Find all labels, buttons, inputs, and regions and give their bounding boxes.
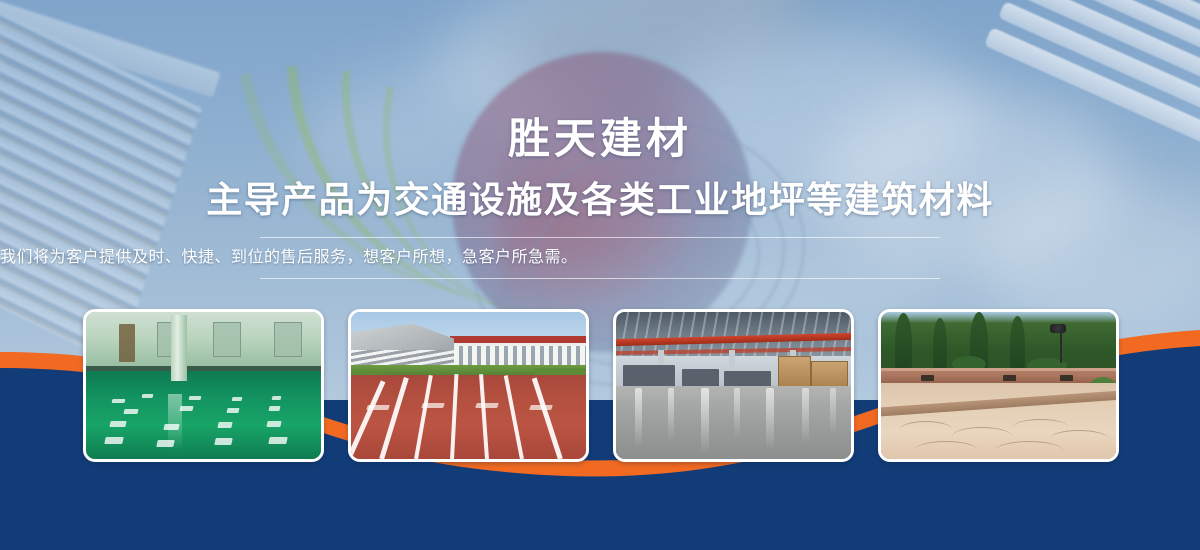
warehouse-machinery <box>682 369 720 387</box>
epoxy-highlight <box>189 396 202 400</box>
gallery-card-warehouse-floor[interactable] <box>613 309 854 462</box>
track-start-mark <box>475 403 499 408</box>
green-epoxy-floor-image <box>86 312 321 459</box>
epoxy-highlight <box>104 437 123 444</box>
plaza-wall-vent <box>921 375 934 381</box>
lamp-post-head <box>1050 324 1066 333</box>
hero-banner: 胜天建材 主导产品为交通设施及各类工业地坪等建筑材料 我们将为客户提供及时、快捷… <box>0 0 1200 550</box>
photo-gallery <box>0 0 1200 550</box>
epoxy-highlight <box>111 399 125 403</box>
epoxy-highlight <box>179 406 193 411</box>
epoxy-window-3 <box>274 322 302 356</box>
epoxy-highlight <box>266 421 281 427</box>
epoxy-window-2 <box>213 322 241 356</box>
epoxy-highlight <box>269 437 288 444</box>
epoxy-floor-surface <box>86 371 321 459</box>
epoxy-highlight <box>156 440 174 447</box>
epoxy-door <box>119 324 135 362</box>
cypress-tree <box>933 318 947 371</box>
epoxy-highlight <box>123 409 138 414</box>
track-start-mark <box>529 405 553 410</box>
cypress-tree <box>895 313 912 372</box>
epoxy-highlight <box>269 406 281 411</box>
floor-reflection <box>668 388 674 441</box>
floor-reflection <box>802 388 809 444</box>
floor-reflection <box>734 388 740 438</box>
epoxy-highlight <box>163 424 179 430</box>
track-start-mark <box>367 405 391 410</box>
stamp-pattern-line <box>914 441 978 459</box>
floor-reflection <box>766 388 774 450</box>
floor-reflection <box>635 388 642 447</box>
epoxy-highlight <box>271 396 281 400</box>
stamp-pattern-line <box>1050 430 1108 447</box>
plaza-wall-cap <box>881 368 1116 371</box>
epoxy-highlight <box>226 408 239 413</box>
gallery-card-stamped-concrete[interactable] <box>878 309 1119 462</box>
cypress-tree <box>1010 316 1025 372</box>
track-start-mark <box>421 403 445 408</box>
gallery-card-running-track[interactable] <box>348 309 589 462</box>
epoxy-column <box>171 315 187 381</box>
warehouse-floor-image <box>616 312 851 459</box>
plaza-wall-vent <box>1003 375 1016 381</box>
epoxy-highlight <box>215 438 233 445</box>
stamped-concrete-image <box>881 312 1116 459</box>
track-building-windows <box>450 346 586 367</box>
epoxy-highlight <box>217 422 232 428</box>
epoxy-highlight <box>231 397 242 401</box>
epoxy-highlight <box>142 394 154 398</box>
running-track-image <box>351 312 586 459</box>
track-building-roof <box>450 336 586 343</box>
floor-reflection <box>830 388 836 435</box>
plaza-tree-line <box>881 312 1116 374</box>
stamp-pattern-line <box>994 441 1064 459</box>
floor-reflection <box>701 388 709 453</box>
plaza-wall-vent <box>1060 375 1073 381</box>
epoxy-highlight <box>109 421 126 427</box>
gallery-card-green-epoxy-floor[interactable] <box>83 309 324 462</box>
stamp-pattern-line <box>900 421 952 438</box>
